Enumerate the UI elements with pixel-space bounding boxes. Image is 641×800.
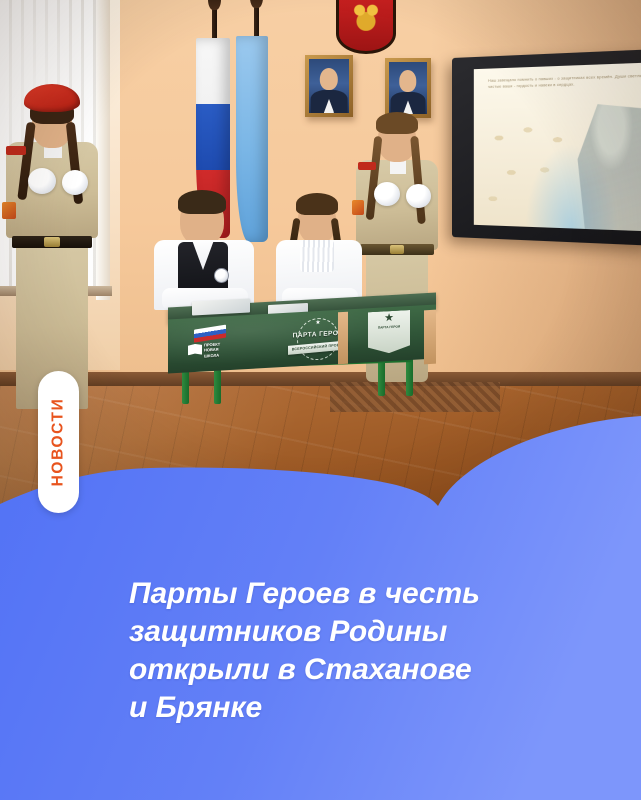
cadet-left-sleeve-patch xyxy=(2,202,16,219)
portrait-putin xyxy=(305,55,353,117)
desk-edge-trim xyxy=(424,310,436,365)
student-girl-collar-ruffle xyxy=(300,240,334,272)
headline: Парты Героев в честь защитников Родины о… xyxy=(129,575,589,727)
book-icon xyxy=(188,344,202,356)
cadet-left-pompom xyxy=(28,168,56,194)
student-boy-hair xyxy=(178,190,226,214)
headline-line-4: и Брянке xyxy=(129,689,589,727)
desk-edge-trim xyxy=(338,312,348,365)
student-girl-hair xyxy=(296,193,338,215)
desk-star-badge-text: ПАРТА ГЕРОЯ xyxy=(368,324,410,331)
cadet-right-belt-buckle xyxy=(390,245,404,254)
display-screen: Наш завещано помнить о павших - о защитн… xyxy=(474,62,641,232)
headline-line-2: защитников Родины xyxy=(129,613,589,651)
cadet-left-beret-icon xyxy=(24,84,80,112)
cadet-left xyxy=(0,84,120,414)
russian-flag-icon xyxy=(194,325,226,343)
school-project-logo-text: ПРОЕКТ НОВАЯ ШКОЛА xyxy=(204,342,220,359)
school-project-logo: ПРОЕКТ НОВАЯ ШКОЛА xyxy=(188,326,234,369)
headline-line-3: открыли в Стаханове xyxy=(129,651,589,689)
news-badge[interactable]: НОВОСТИ xyxy=(38,371,79,513)
desk-star-badge: ★ ПАРТА ГЕРОЯ xyxy=(368,310,410,354)
star-icon: ★ xyxy=(315,319,320,326)
slide-text: Наш завещано помнить о павших - о защитн… xyxy=(488,72,641,90)
cadet-right-pompom xyxy=(374,182,400,206)
cadet-right-shoulder-mark xyxy=(358,162,376,170)
news-badge-label: НОВОСТИ xyxy=(50,398,68,487)
news-card: Наш завещано помнить о павших - о защитн… xyxy=(0,0,641,800)
wall-display: Наш завещано помнить о павших - о защитн… xyxy=(452,49,641,246)
floor-rug xyxy=(330,382,500,412)
cadet-right-hair xyxy=(376,112,418,134)
student-boy xyxy=(152,186,262,316)
cadet-left-belt-buckle xyxy=(44,237,60,247)
portrait-head xyxy=(399,70,416,92)
student-boy-badge xyxy=(214,268,229,283)
headline-line-1: Парты Героев в честь xyxy=(129,575,589,613)
coat-of-arms-icon xyxy=(336,0,396,54)
cadet-left-pompom xyxy=(62,170,88,195)
news-photo: Наш завещано помнить о павших - о защитн… xyxy=(0,0,641,520)
cadet-left-shoulder-mark xyxy=(6,146,26,155)
portrait-head xyxy=(320,68,338,91)
cadet-right-pompom xyxy=(406,184,431,208)
